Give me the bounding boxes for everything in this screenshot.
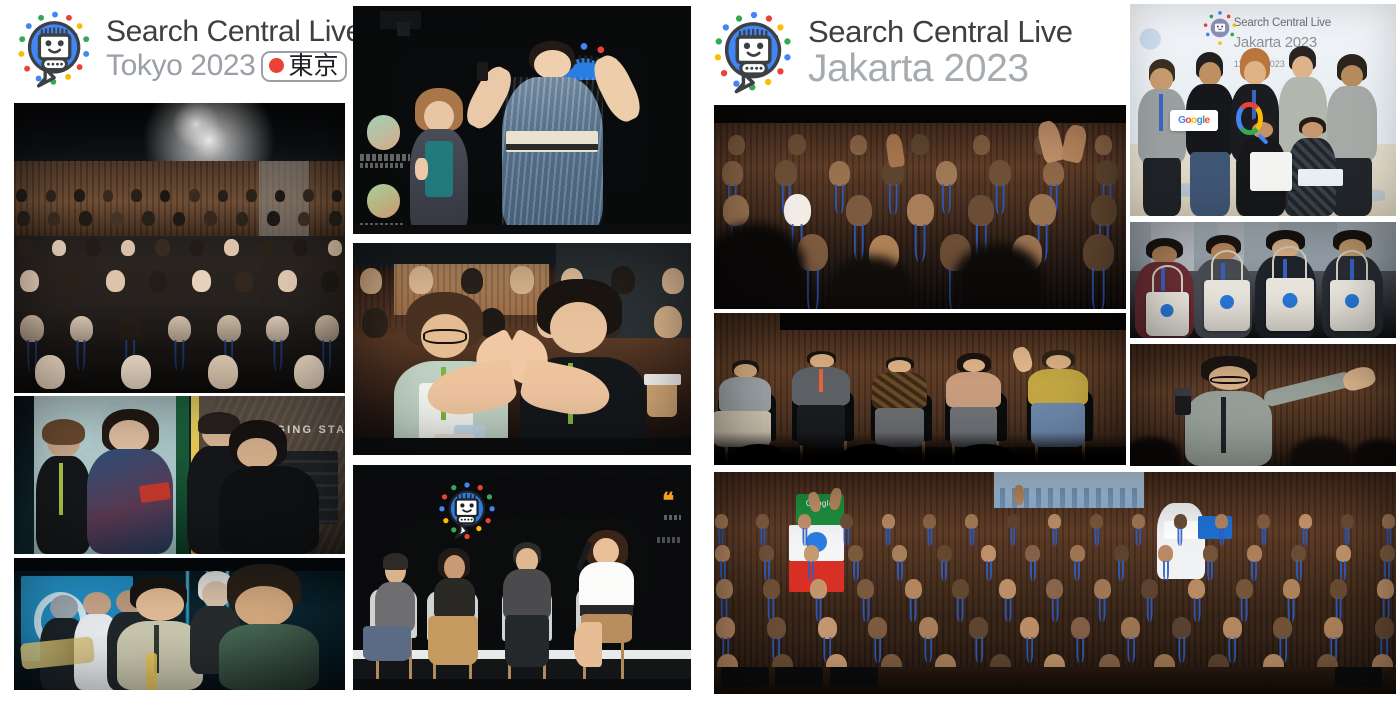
japan-badge: 東京 [261,51,347,82]
japan-badge-label: 東京 [288,53,338,78]
event-location-year: Jakarta 2023 [808,49,1073,88]
section-jakarta: Search Central Live Jakarta 2023 Search … [700,0,1400,704]
event-title: Search Central Live [808,16,1073,47]
event-location-year-label: Jakarta 2023 [808,49,1029,88]
brand-lockup-tokyo: Search Central Live Tokyo 2023 東京 [14,8,362,90]
photo-jakarta-tote-bags [1130,222,1396,338]
section-tokyo: Search Central Live Tokyo 2023 東京 [0,0,700,704]
event-location-year-label: Tokyo 2023 [106,51,255,81]
search-central-mascot-icon [14,8,96,90]
photo-tokyo-heart-gesture [353,243,691,455]
japan-flag-icon [269,58,284,73]
photo-jakarta-backdrop-group: Search Central Live Jakarta 2023 12 July… [1130,4,1396,216]
photo-tokyo-networking-drinks [14,558,345,690]
photo-jakarta-question-speaker [1130,344,1396,466]
brand-text-jakarta: Search Central Live Jakarta 2023 [808,16,1073,88]
search-central-mascot-icon [710,8,798,96]
photo-tokyo-audience-group [14,103,345,393]
brand-text-tokyo: Search Central Live Tokyo 2023 東京 [106,17,362,82]
event-title: Search Central Live [106,17,362,47]
photo-jakarta-full-group: Google [714,472,1396,694]
photo-tokyo-charging-station: CHARGING STATION [14,396,345,554]
brand-lockup-jakarta: Search Central Live Jakarta 2023 [710,8,1073,96]
photo-tokyo-panel-stage: ❝ [353,465,691,690]
photo-jakarta-audience-waving [714,105,1126,309]
collage-page: Search Central Live Tokyo 2023 東京 [0,0,1400,704]
event-location-year: Tokyo 2023 東京 [106,51,362,82]
photo-jakarta-panel-stage [714,313,1126,465]
photo-tokyo-yukata-speaker [353,6,691,234]
